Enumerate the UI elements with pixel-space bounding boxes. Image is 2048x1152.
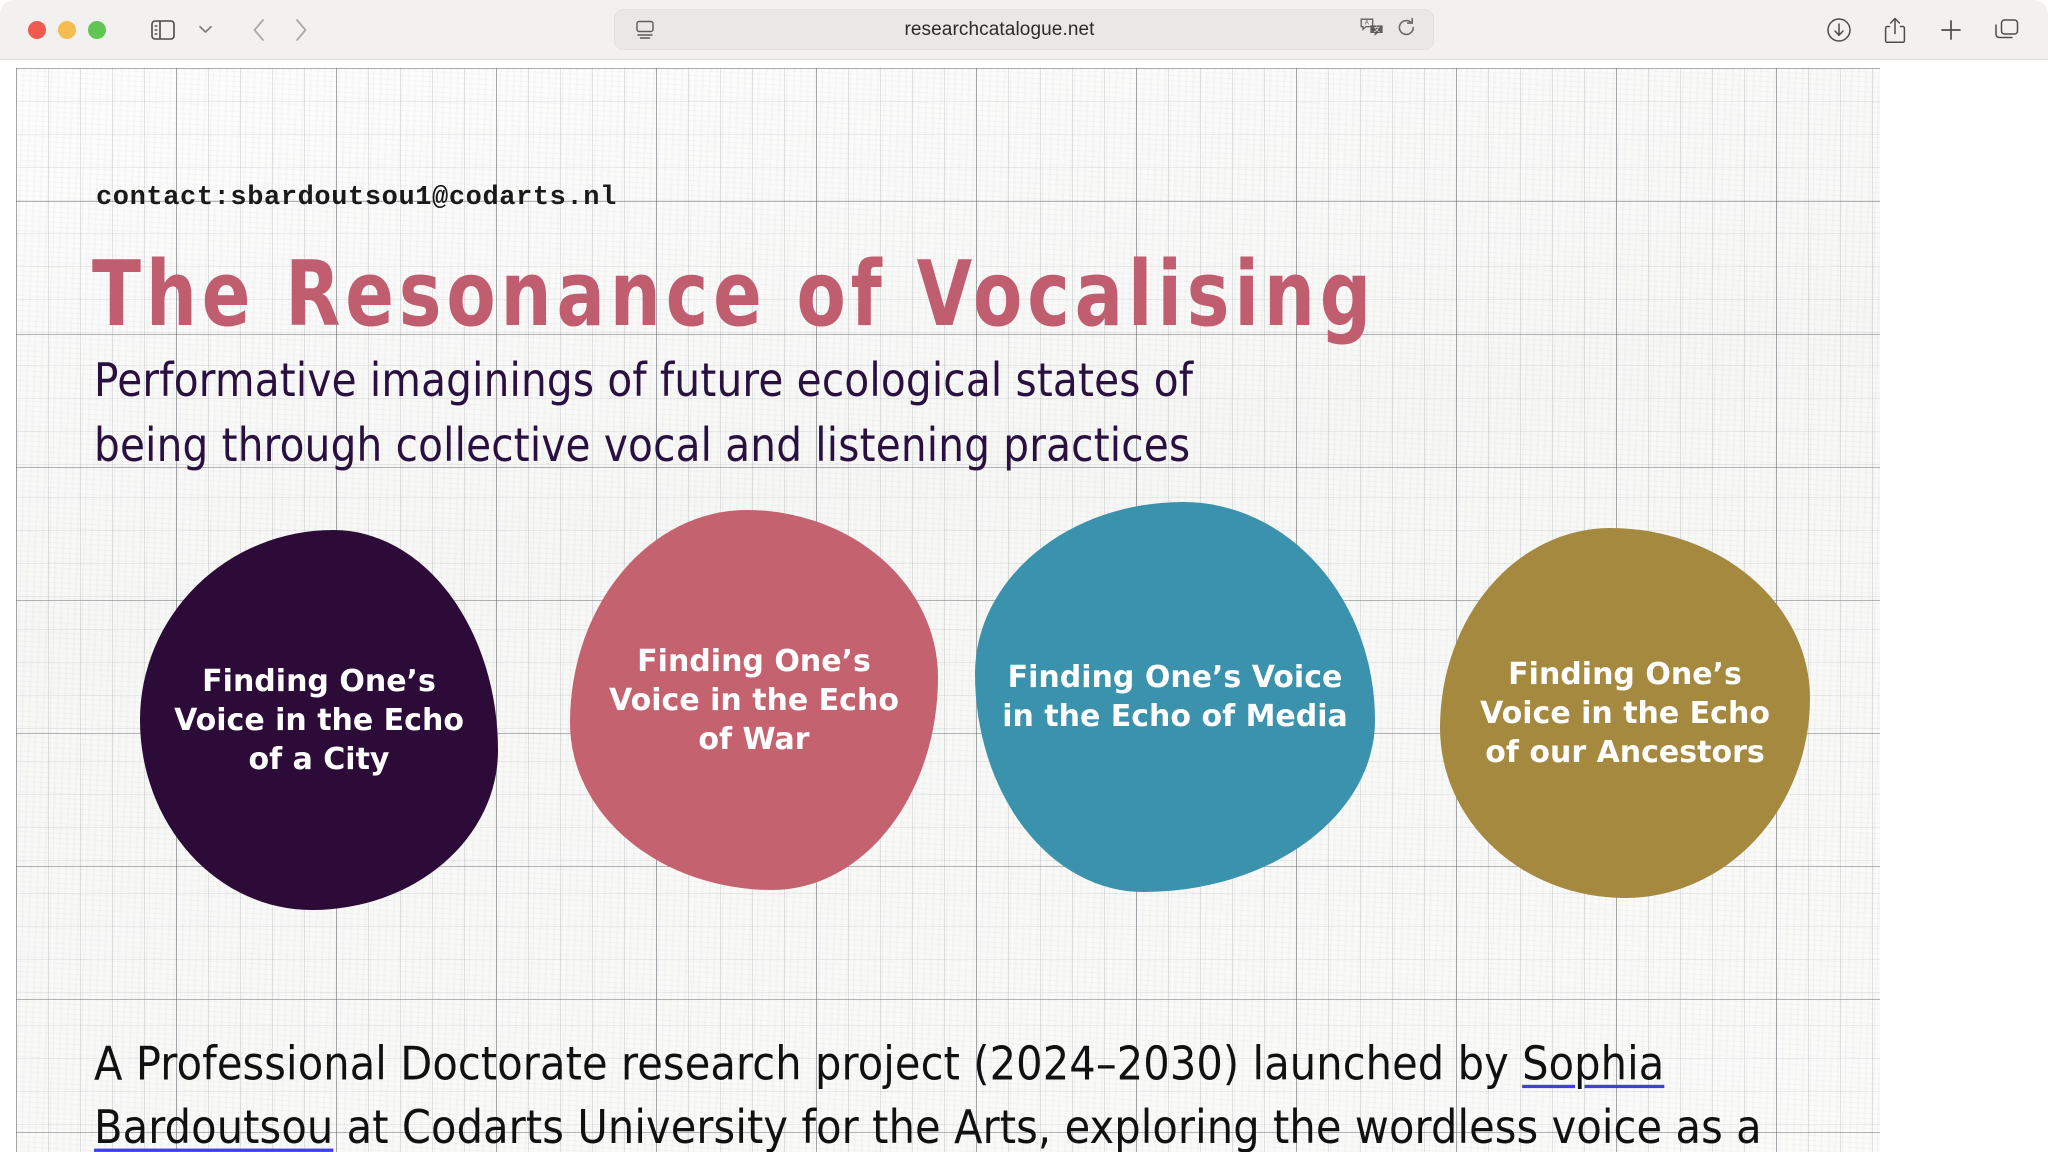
address-bar-actions: A 文: [1360, 17, 1417, 43]
project-blob-war[interactable]: Finding One’s Voice in the Echo of War: [570, 510, 938, 890]
svg-text:文: 文: [1374, 24, 1381, 33]
project-blob-label: Finding One’s Voice in the Echo of Media: [1001, 658, 1349, 736]
page-title: The Resonance of Vocalising: [92, 242, 1376, 347]
description-part-one: A Professional Doctorate research projec…: [94, 1036, 1522, 1090]
page-subtitle: Performative imaginings of future ecolog…: [94, 348, 1262, 478]
project-description: A Professional Doctorate research projec…: [94, 1032, 1836, 1152]
browser-toolbar: researchcatalogue.net A 文: [0, 0, 2048, 60]
description-part-two: at Codarts University for the Arts, expl…: [94, 1100, 1762, 1152]
window-controls: [28, 21, 106, 39]
project-blob-label: Finding One’s Voice in the Echo of a Cit…: [166, 662, 472, 779]
back-icon[interactable]: [238, 13, 280, 47]
toolbar-right-actions: [1824, 0, 2022, 60]
close-window-button[interactable]: [28, 21, 46, 39]
share-icon[interactable]: [1880, 15, 1910, 45]
forward-icon[interactable]: [280, 13, 322, 47]
svg-text:A: A: [1365, 20, 1370, 27]
maximize-window-button[interactable]: [88, 21, 106, 39]
reload-icon[interactable]: [1396, 17, 1417, 43]
page-content: contact:sbardoutsou1@codarts.nl The Reso…: [0, 60, 2048, 1152]
translate-icon[interactable]: A 文: [1360, 17, 1384, 42]
address-bar[interactable]: researchcatalogue.net A 文: [614, 9, 1434, 50]
downloads-icon[interactable]: [1824, 15, 1854, 45]
chevron-down-icon[interactable]: [194, 16, 216, 44]
address-bar-url[interactable]: researchcatalogue.net: [639, 19, 1360, 41]
browser-window: researchcatalogue.net A 文: [0, 0, 2048, 1152]
sidebar-toggle-icon[interactable]: [146, 16, 180, 44]
contact-email[interactable]: contact:sbardoutsou1@codarts.nl: [96, 183, 617, 213]
tab-overview-icon[interactable]: [1992, 15, 2022, 45]
project-blob-city[interactable]: Finding One’s Voice in the Echo of a Cit…: [140, 530, 498, 910]
project-blob-row: Finding One’s Voice in the Echo of a Cit…: [0, 520, 1880, 920]
project-blob-media[interactable]: Finding One’s Voice in the Echo of Media: [975, 502, 1375, 892]
web-page: contact:sbardoutsou1@codarts.nl The Reso…: [0, 60, 2048, 1152]
project-blob-label: Finding One’s Voice in the Echo of our A…: [1466, 655, 1784, 772]
project-blob-label: Finding One’s Voice in the Echo of War: [596, 642, 912, 759]
new-tab-icon[interactable]: [1936, 15, 1966, 45]
project-blob-ancestors[interactable]: Finding One’s Voice in the Echo of our A…: [1440, 528, 1810, 898]
minimize-window-button[interactable]: [58, 21, 76, 39]
